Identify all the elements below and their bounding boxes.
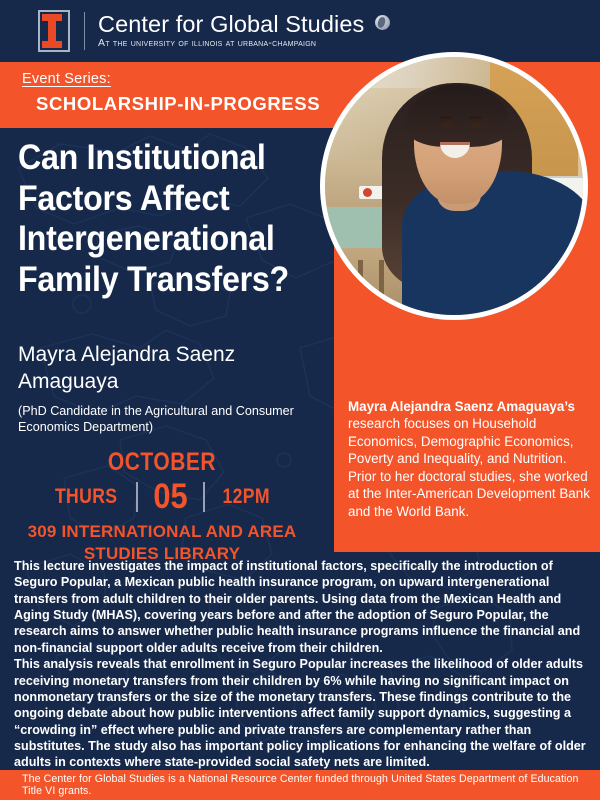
- speaker-name-line-1: Mayra Alejandra Saenz: [18, 342, 328, 369]
- brand-subtitle: At the University of Illinois at Urbana-…: [98, 39, 390, 49]
- portrait-switch-red: [363, 188, 372, 197]
- event-day-number: 05: [154, 479, 188, 514]
- poster-header: Center for Global Studies At the Univers…: [0, 0, 600, 62]
- bio-lead-name: Mayra Alejandra Saenz Amaguaya’s: [348, 399, 575, 414]
- portrait-arm: [506, 222, 588, 310]
- event-weekday: THURS: [55, 485, 117, 509]
- event-series-band: Event Series: SCHOLARSHIP-IN-PROGRESS: [0, 62, 334, 128]
- abstract-paragraph-2: This analysis reveals that enrollment in…: [14, 656, 592, 771]
- illinois-block-i-logo: [38, 10, 70, 52]
- poster-footer: The Center for Global Studies is a Natio…: [0, 770, 600, 800]
- footer-funding-text: The Center for Global Studies is a Natio…: [22, 773, 600, 797]
- event-poster: Center for Global Studies At the Univers…: [0, 0, 600, 800]
- event-location-line-1: 309 INTERNATIONAL AND AREA: [26, 521, 298, 543]
- brand-title: Center for Global Studies: [98, 13, 364, 37]
- speaker-name-line-2: Amaguaya: [18, 369, 328, 396]
- event-series-name: SCHOLARSHIP-IN-PROGRESS: [36, 93, 334, 115]
- date-separator-left: [136, 482, 138, 512]
- event-date-block: OCTOBER THURS 05 12PM 309 INTERNATIONAL …: [0, 448, 324, 565]
- event-month: OCTOBER: [26, 448, 298, 477]
- title-line-3: Intergenerational: [18, 219, 294, 260]
- title-line-2: Factors Affect: [18, 179, 294, 220]
- title-line-4: Family Transfers?: [18, 260, 294, 301]
- logo-divider: [84, 12, 85, 50]
- speaker-name: Mayra Alejandra Saenz Amaguaya: [18, 342, 328, 396]
- bio-text: research focuses on Household Economics,…: [348, 416, 590, 518]
- abstract-paragraph-1: This lecture investigates the impact of …: [14, 558, 592, 656]
- speaker-block: Mayra Alejandra Saenz Amaguaya (PhD Cand…: [18, 342, 328, 436]
- event-series-label: Event Series:: [22, 71, 334, 87]
- portrait-brow-left: [440, 116, 453, 119]
- date-separator-right: [203, 482, 205, 512]
- logo-stem: [48, 14, 56, 44]
- logo-bar-bottom: [42, 41, 62, 48]
- event-date-row: THURS 05 12PM: [0, 479, 324, 514]
- speaker-bio: Mayra Alejandra Saenz Amaguaya’s researc…: [334, 398, 600, 520]
- portrait-eye-left: [442, 123, 452, 128]
- portrait-brow-right: [469, 116, 482, 119]
- title-line-1: Can Institutional: [18, 138, 294, 179]
- event-title: Can Institutional Factors Affect Interge…: [18, 138, 294, 300]
- speaker-affiliation: (PhD Candidate in the Agricultural and C…: [18, 403, 328, 436]
- event-abstract: This lecture investigates the impact of …: [14, 558, 592, 771]
- speaker-portrait: [320, 52, 588, 320]
- event-time: 12PM: [223, 485, 270, 509]
- brand-block: Center for Global Studies At the Univers…: [98, 13, 390, 50]
- portrait-eye-right: [471, 123, 481, 128]
- globe-icon: [375, 15, 390, 30]
